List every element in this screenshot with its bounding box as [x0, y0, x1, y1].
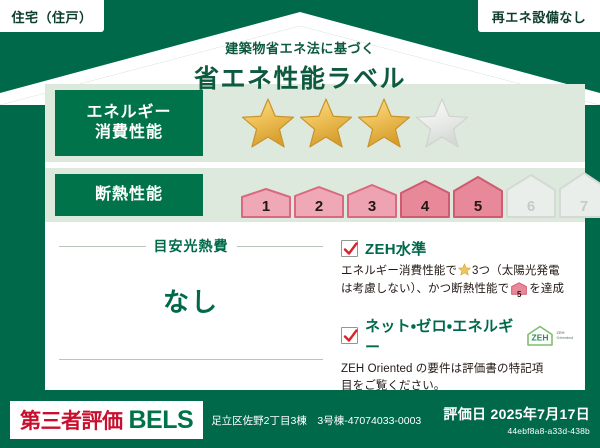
nze-desc-line2: 目をご覧ください。: [341, 380, 445, 392]
evaluation-date: 評価日 2025年7月17日: [443, 404, 590, 424]
star-filled-3: [357, 96, 411, 150]
zeh-house-icon: ZEH: [525, 325, 555, 347]
check-icon: [343, 242, 358, 257]
check-item-zeh-standard: ZEH水準 エネルギー消費性能で3つ（太陽光発電 は考慮しない）、かつ断熱性能で…: [341, 238, 573, 302]
insulation-performance-row: 断熱性能 1 2: [45, 168, 585, 222]
property-address: 足立区佐野2丁目3棟 3号棟-47074033-0003: [211, 413, 421, 428]
svg-text:ZEH: ZEH: [531, 332, 548, 342]
insulation-performance-label: 断熱性能: [55, 174, 203, 216]
housing-type-badge: 住宅（住戸）: [0, 0, 104, 32]
check-head-net-zero-energy: ネット・ゼロ・エネルギー ZEH ZEH Oriented: [341, 315, 573, 357]
insulation-badges-body: 1 2 3 4: [203, 168, 600, 222]
check-title-net-zero-energy: ネット・ゼロ・エネルギー: [365, 315, 516, 357]
insulation-level-4: 4: [400, 180, 450, 218]
zeh-desc-part4: を達成: [529, 283, 564, 295]
footer: 第三者評価 BELS 足立区佐野2丁目3棟 3号棟-47074033-0003 …: [0, 392, 600, 448]
zeh-logo: ZEH ZEH Oriented: [525, 325, 573, 347]
insulation-level-3-number: 3: [347, 198, 397, 215]
star-rating: [241, 96, 469, 150]
star-filled-2: [299, 96, 353, 150]
bels-jp-text: 第三者評価: [20, 405, 123, 435]
utility-cost-section: 目安光熱費 なし: [45, 232, 337, 382]
checkbox-net-zero-energy[interactable]: [341, 327, 358, 344]
zeh-desc-part1: エネルギー消費性能で: [341, 265, 457, 277]
zeh-logo-sub2: Oriented: [557, 335, 573, 340]
check-head-zeh-standard: ZEH水準: [341, 238, 573, 259]
zeh-desc-part2: 3つ（太陽光発電: [472, 265, 560, 277]
check-item-net-zero-energy: ネット・ゼロ・エネルギー ZEH ZEH Oriented ZEH Orient…: [341, 315, 573, 397]
bels-en-text: BELS: [129, 406, 194, 435]
insulation-level-5-number: 5: [453, 198, 503, 215]
check-title-zeh-standard: ZEH水準: [365, 238, 427, 259]
insulation-level-scale: 1 2 3 4: [241, 172, 600, 218]
utility-cost-title: 目安光熱費: [59, 236, 323, 256]
energy-stars-body: [203, 84, 585, 162]
housing-type-label: 住宅（住戸）: [11, 7, 92, 26]
inline-star-icon: [458, 263, 471, 276]
utility-cost-value: なし: [59, 282, 323, 319]
bels-logo: 第三者評価 BELS: [10, 401, 203, 439]
insulation-level-6: 6: [506, 174, 556, 218]
energy-performance-label: エネルギー 消費性能: [55, 90, 203, 156]
insulation-level-4-number: 4: [400, 198, 450, 215]
utility-cost-rule: [59, 359, 323, 360]
insulation-level-6-number: 6: [506, 198, 556, 215]
insulation-level-2-number: 2: [294, 198, 344, 215]
renewable-equipment-badge: 再エネ設備なし: [478, 0, 600, 32]
evaluation-hash: 44ebf8a8-a33d-438b: [443, 426, 590, 436]
insulation-level-1: 1: [241, 188, 291, 218]
energy-performance-row: エネルギー 消費性能: [45, 84, 585, 162]
star-filled-1: [241, 96, 295, 150]
check-desc-zeh-standard: エネルギー消費性能で3つ（太陽光発電 は考慮しない）、かつ断熱性能で5を達成: [341, 263, 573, 302]
insulation-level-1-number: 1: [241, 198, 291, 215]
energy-label-line1: エネルギー: [86, 103, 171, 123]
renewable-equipment-label: 再エネ設備なし: [492, 7, 587, 26]
zeh-logo-subtext: ZEH Oriented: [557, 331, 573, 340]
utility-cost-title-text: 目安光熱費: [154, 236, 229, 256]
insulation-label-text: 断熱性能: [95, 185, 163, 205]
inline-badge-number: 5: [511, 289, 527, 301]
card-bottom-area: 目安光熱費 なし ZEH水準 エネルギー消費性能で3つ（太陽光発電: [45, 222, 585, 382]
evaluation-info: 評価日 2025年7月17日 44ebf8a8-a33d-438b: [443, 404, 590, 436]
checkbox-zeh-standard[interactable]: [341, 240, 358, 257]
insulation-level-2: 2: [294, 186, 344, 218]
check-icon: [343, 329, 358, 344]
insulation-level-5: 5: [453, 176, 503, 218]
nze-desc-line1: ZEH Oriented の要件は評価書の特記項: [341, 363, 543, 375]
check-desc-net-zero-energy: ZEH Oriented の要件は評価書の特記項 目をご覧ください。: [341, 361, 573, 397]
energy-label-line2: 消費性能: [95, 123, 163, 143]
certification-checks: ZEH水準 エネルギー消費性能で3つ（太陽光発電 は考慮しない）、かつ断熱性能で…: [337, 232, 585, 382]
insulation-level-7-number: 7: [559, 198, 600, 215]
inline-insulation-badge: 5: [511, 282, 527, 302]
star-empty-4: [415, 96, 469, 150]
insulation-level-7: 7: [559, 172, 600, 218]
zeh-desc-part3: は考慮しない）、かつ断熱性能で: [341, 283, 509, 295]
insulation-level-3: 3: [347, 184, 397, 218]
label-card: エネルギー 消費性能: [45, 84, 585, 390]
